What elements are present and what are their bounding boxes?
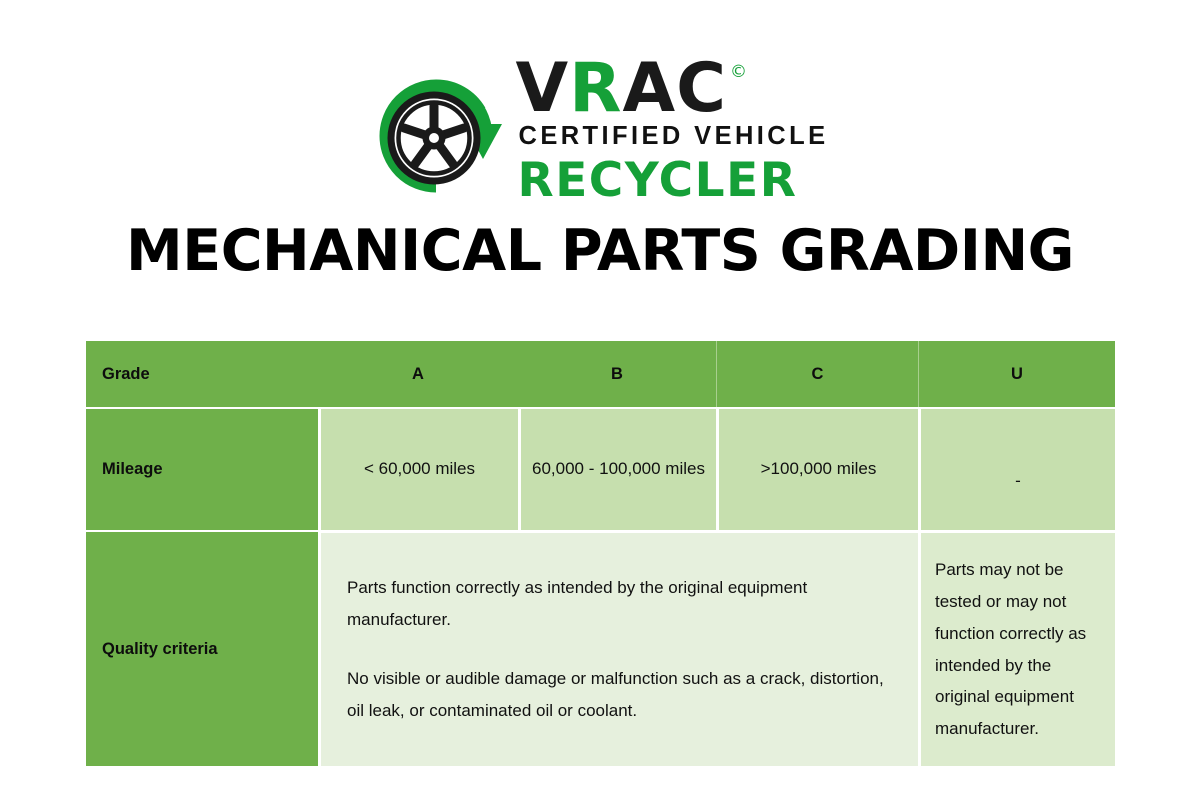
- logo-tagline-recycler: RECYCLER: [518, 153, 798, 208]
- header-cell-grade-c: C: [716, 341, 918, 407]
- logo-inner: VRAC© CERTIFIED VEHICLE RECYCLER: [372, 52, 829, 208]
- page-title: MECHANICAL PARTS GRADING: [0, 218, 1200, 284]
- cell-mileage-c: >100,000 miles: [716, 407, 918, 530]
- copyright-icon: ©: [730, 64, 748, 81]
- quality-u-paragraph: Parts may not be tested or may not funct…: [935, 554, 1101, 746]
- row-label-mileage: Mileage: [86, 407, 318, 530]
- vrac-recycling-wheel-logo-icon: [372, 54, 514, 198]
- header-cell-grade-b: B: [518, 341, 716, 407]
- logo-letter-r: R: [569, 58, 622, 121]
- table-header-row: Grade A B C U: [86, 341, 1115, 407]
- quality-paragraph-2: No visible or audible damage or malfunct…: [347, 663, 896, 728]
- header-cell-grade-a: A: [318, 341, 518, 407]
- row-label-quality-criteria: Quality criteria: [86, 530, 318, 766]
- header-cell-grade-u: U: [918, 341, 1115, 407]
- cell-mileage-a: < 60,000 miles: [318, 407, 518, 530]
- header-cell-grade: Grade: [86, 341, 318, 407]
- logo-letters-ac: AC: [623, 58, 728, 121]
- cell-mileage-b: 60,000 - 100,000 miles: [518, 407, 716, 530]
- mechanical-parts-grading-table: Grade A B C U Mileage < 60,000 miles 60,…: [86, 341, 1115, 766]
- logo-letter-v: V: [516, 58, 570, 121]
- quality-paragraph-1: Parts function correctly as intended by …: [347, 572, 896, 637]
- table-row-quality-criteria: Quality criteria Parts function correctl…: [86, 530, 1115, 766]
- cell-mileage-u: -: [918, 407, 1115, 530]
- cell-quality-abc: Parts function correctly as intended by …: [318, 530, 918, 766]
- logo-wordmark: VRAC© CERTIFIED VEHICLE RECYCLER: [516, 52, 829, 208]
- logo-vrac-text: VRAC©: [516, 58, 749, 121]
- table-row-mileage: Mileage < 60,000 miles 60,000 - 100,000 …: [86, 407, 1115, 530]
- brand-logo: VRAC© CERTIFIED VEHICLE RECYCLER: [0, 52, 1200, 202]
- cell-quality-u: Parts may not be tested or may not funct…: [918, 530, 1115, 766]
